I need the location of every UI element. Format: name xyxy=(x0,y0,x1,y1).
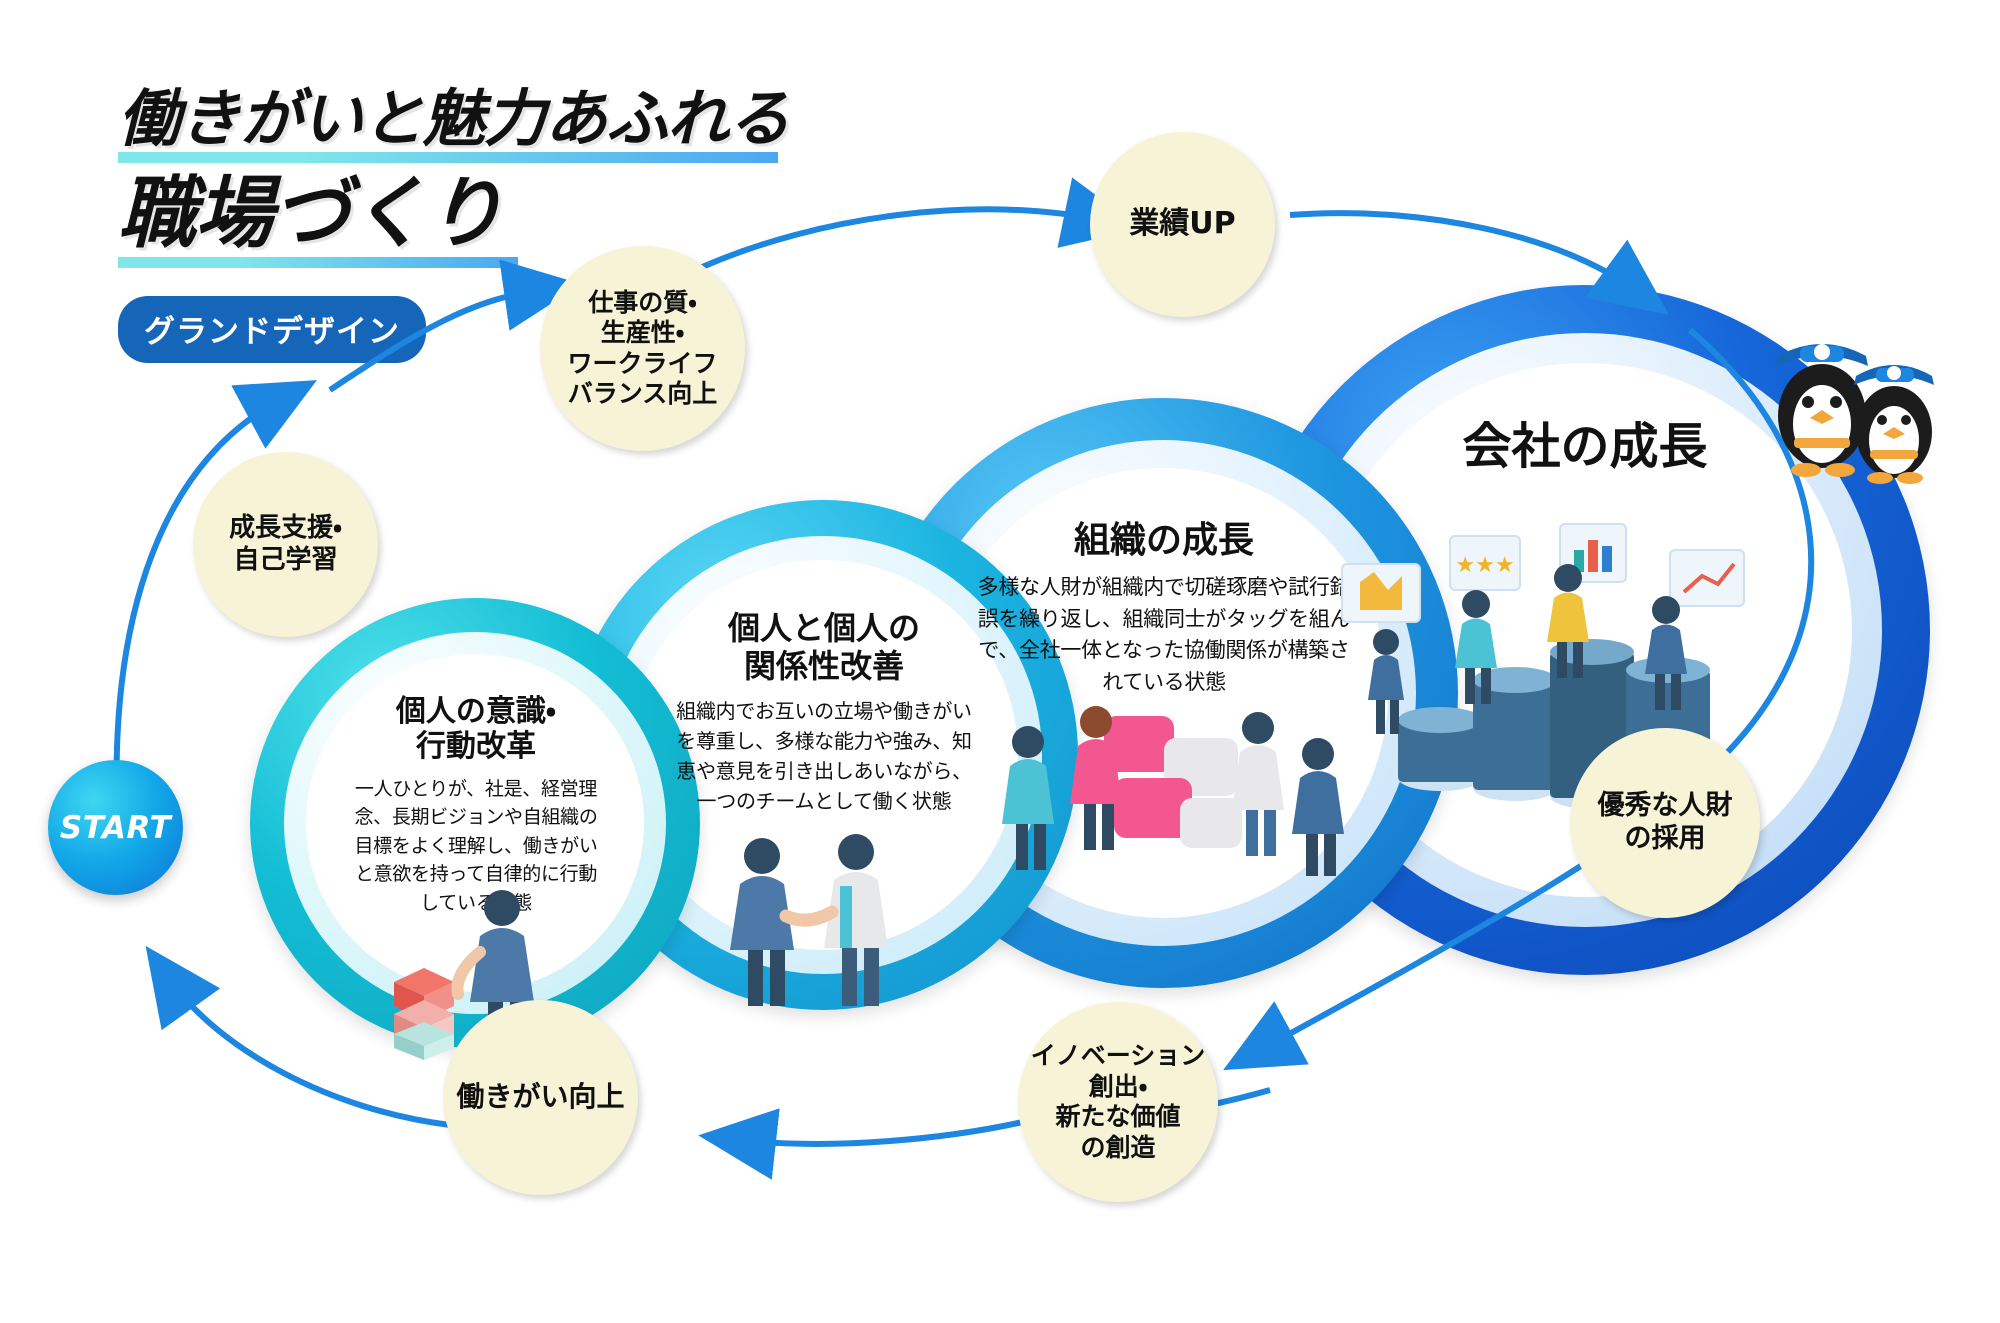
outcome-work-quality-line1: 仕事の質・ xyxy=(588,288,697,317)
outcome-work-quality-line4: バランス向上 xyxy=(568,379,718,408)
outcome-work-quality-line2: 生産性・ xyxy=(601,318,685,347)
start-node[interactable]: START xyxy=(48,760,183,895)
outcome-innovation[interactable]: イノベーション 創出・ 新たな価値 の創造 xyxy=(1018,1002,1218,1202)
outcome-growth-support[interactable]: 成長支援・ 自己学習 xyxy=(193,452,378,637)
stage-3-title-line1: 組織の成長 xyxy=(1074,520,1254,561)
relationship-illustration xyxy=(690,830,930,1020)
outcome-innovation-line1: イノベーション xyxy=(1031,1041,1206,1070)
outcome-engagement[interactable]: 働きがい向上 xyxy=(443,1000,638,1195)
stage-4-title-line1: 会社の成長 xyxy=(1462,418,1707,475)
outcome-talent-hiring[interactable]: 優秀な人財 の採用 xyxy=(1570,728,1760,918)
stage-2-title-line2: 関係性改善 xyxy=(744,647,904,685)
org-growth-illustration xyxy=(968,680,1368,910)
svg-text:★★★: ★★★ xyxy=(1455,553,1514,578)
arrow-quality-to-performance xyxy=(700,209,1100,268)
diagram-canvas: 働きがいと魅力あふれる 職場づくり グランドデザイン xyxy=(0,0,2000,1323)
penguin-mascots xyxy=(1760,320,1960,500)
arrow-innovation-to-engagement xyxy=(740,1118,1040,1144)
arrow-performance-to-right xyxy=(1290,213,1635,290)
outcome-talent-hiring-line2: の採用 xyxy=(1625,823,1706,854)
outcome-innovation-line3: 新たな価値 xyxy=(1055,1102,1180,1131)
outcome-innovation-line4: の創造 xyxy=(1080,1133,1155,1162)
outcome-innovation-line2: 創出・ xyxy=(1089,1072,1148,1101)
outcome-talent-hiring-line1: 優秀な人財 xyxy=(1598,790,1733,821)
arrow-growth-to-quality xyxy=(330,290,540,390)
stage-2-body: 組織内でお互いの立場や働きがいを尊重し、多様な能力や強み、知恵や意見を引き出しあ… xyxy=(638,696,1010,816)
stage-3-text: 組織の成長 多様な人財が組織内で切磋琢磨や試行錯誤を繰り返し、組織同士がタッグを… xyxy=(948,520,1380,698)
stage-1-title-line2: 行動改革 xyxy=(416,729,536,764)
outcome-work-quality[interactable]: 仕事の質・ 生産性・ ワークライフ バランス向上 xyxy=(540,246,745,451)
outcome-growth-support-line1: 成長支援・ xyxy=(229,513,342,543)
outcome-work-quality-line3: ワークライフ xyxy=(567,349,717,378)
stage-2-title-line1: 個人と個人の xyxy=(728,609,920,647)
outcome-growth-support-line2: 自己学習 xyxy=(233,545,337,575)
outcome-engagement-line1: 働きがい向上 xyxy=(456,1080,624,1113)
stage-1-title-line1: 個人の意識・ xyxy=(396,694,556,729)
outcome-performance-up[interactable]: 業績UP xyxy=(1090,132,1275,317)
start-label: START xyxy=(60,810,171,846)
outcome-performance-up-line1: 業績UP xyxy=(1129,206,1235,241)
